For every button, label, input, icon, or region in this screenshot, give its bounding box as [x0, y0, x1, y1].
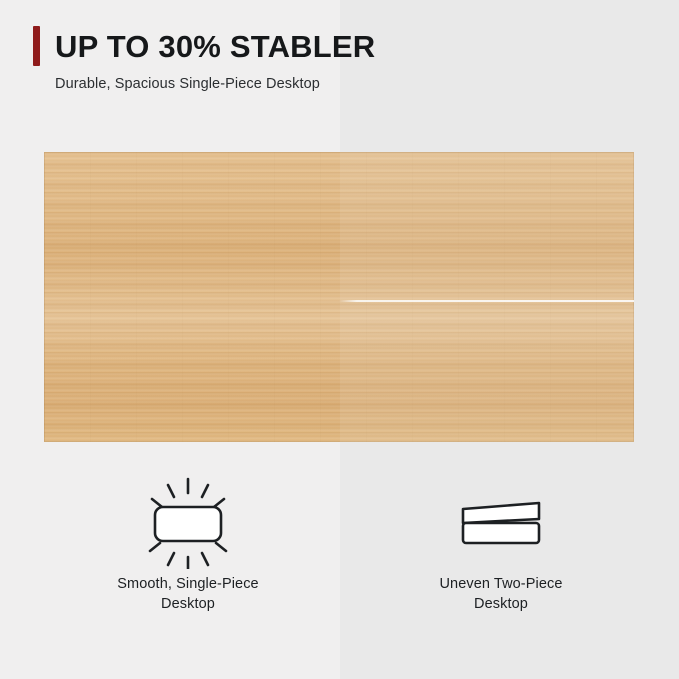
- comparison-left-caption-line2: Desktop: [72, 595, 304, 615]
- page-subtitle: Durable, Spacious Single-Piece Desktop: [55, 76, 320, 92]
- comparison-right-caption-line1: Uneven Two-Piece: [385, 575, 617, 595]
- bamboo-desktop-photo: [44, 152, 634, 442]
- accent-bar: [33, 26, 40, 66]
- product-feature-image: UP TO 30% STABLER Durable, Spacious Sing…: [0, 0, 679, 679]
- comparison-right-caption: Uneven Two-Piece Desktop: [385, 575, 617, 614]
- smooth-single-piece-desktop-icon: [72, 470, 304, 575]
- page-title: UP TO 30% STABLER: [55, 31, 375, 62]
- uneven-two-piece-desktop-icon: [385, 470, 617, 575]
- comparison-left-caption-line1: Smooth, Single-Piece: [72, 575, 304, 595]
- panel-shade-overlay: [340, 152, 634, 442]
- comparison-item-left: Smooth, Single-Piece Desktop: [72, 470, 304, 614]
- headline-row: UP TO 30% STABLER: [33, 26, 375, 66]
- comparison-right-caption-line2: Desktop: [385, 595, 617, 615]
- comparison-left-caption: Smooth, Single-Piece Desktop: [72, 575, 304, 614]
- comparison-item-right: Uneven Two-Piece Desktop: [385, 470, 617, 614]
